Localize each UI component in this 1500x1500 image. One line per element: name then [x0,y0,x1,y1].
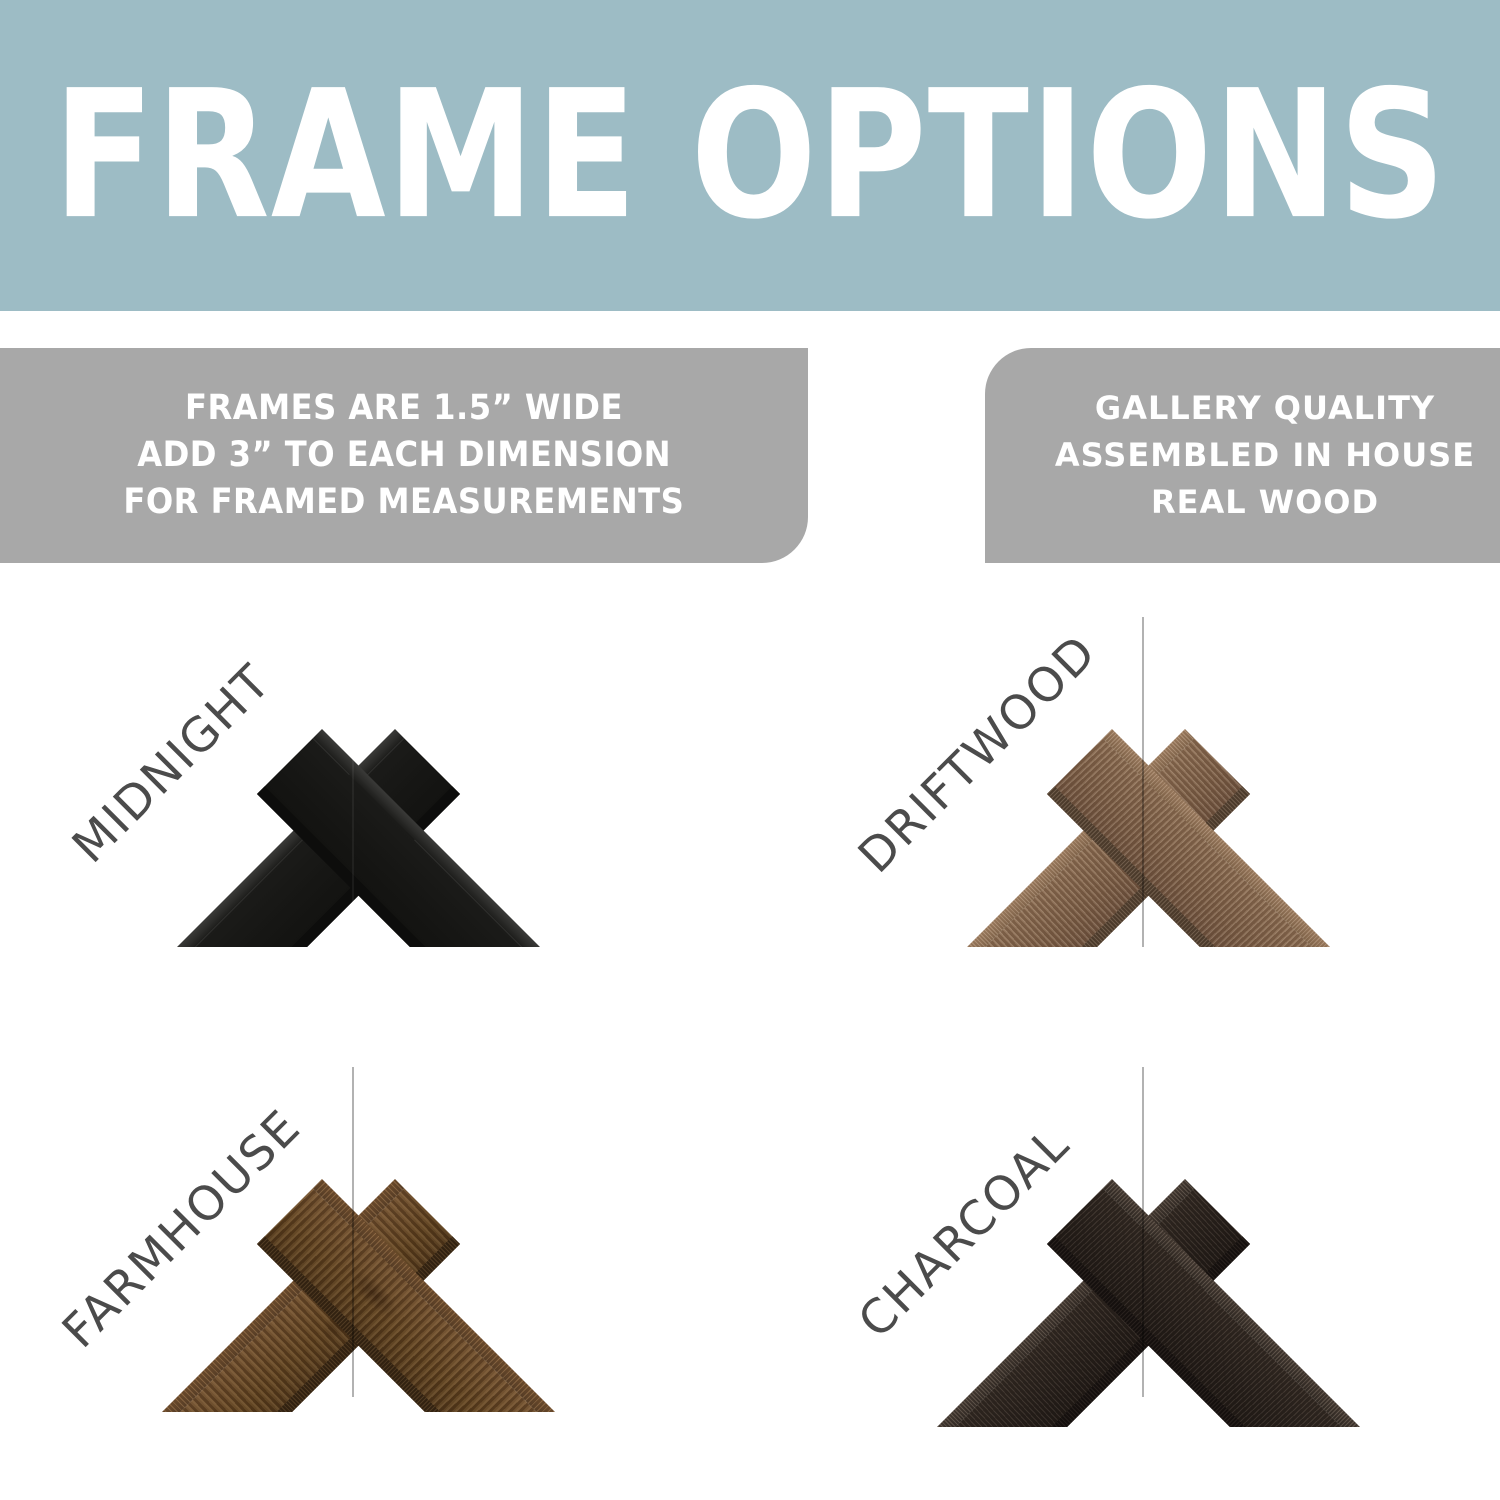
mitre-seam [1142,617,1144,947]
measurements-line-3: FOR FRAMED MEASUREMENTS [124,479,685,526]
quality-line-2: ASSEMBLED IN HOUSE [1055,432,1475,479]
page-title: FRAME OPTIONS [53,67,1447,244]
info-box-measurements: FRAMES ARE 1.5” WIDE ADD 3” TO EACH DIME… [0,348,808,563]
frame-corner-farmhouse [33,1067,673,1412]
frame-option-charcoal[interactable] [750,1053,1500,1500]
frame-option-driftwood[interactable] [750,603,1500,1033]
mitre-seam [1142,1067,1144,1397]
measurements-line-2: ADD 3” TO EACH DIMENSION [137,432,671,479]
quality-line-3: REAL WOOD [1151,479,1379,526]
header-banner: FRAME OPTIONS [0,0,1500,311]
measurements-line-1: FRAMES ARE 1.5” WIDE [185,385,623,432]
mitre-seam [352,617,354,947]
frame-arm-right [1047,1179,1434,1427]
info-box-quality: GALLERY QUALITY ASSEMBLED IN HOUSE REAL … [985,348,1500,563]
mitre-seam [352,1067,354,1397]
quality-line-1: GALLERY QUALITY [1095,385,1435,432]
